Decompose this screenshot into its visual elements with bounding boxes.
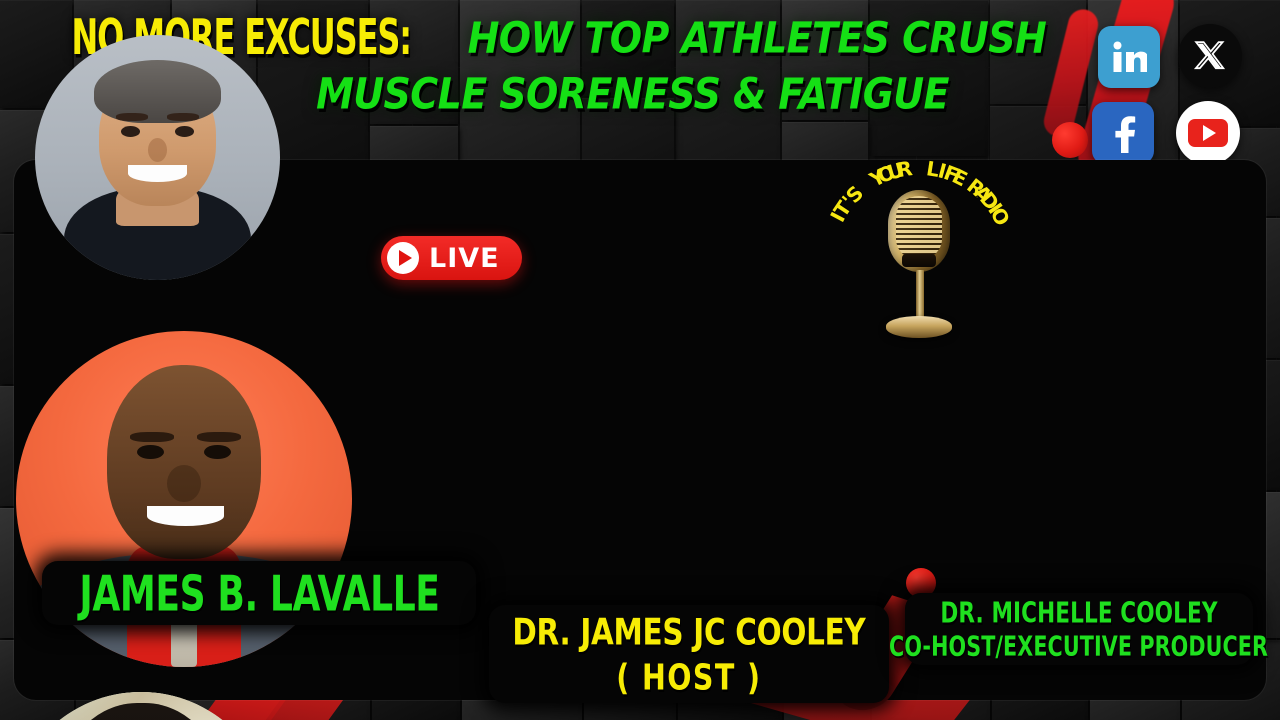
microphone-icon: [880, 190, 958, 340]
red-dot-top: [1052, 122, 1088, 158]
nameplate-center: DR. JAMES JC COOLEY ( HOST ): [489, 605, 889, 703]
nameplate-left: JAMES B. LAVALLE: [42, 561, 476, 625]
guest-photo-left: [35, 35, 280, 280]
radio-logo-arc-char: [910, 156, 919, 180]
host-name-center: DR. JAMES JC COOLEY: [512, 610, 865, 654]
cohost-role-right: CO-HOST/EXECUTIVE PRODUCER: [889, 631, 1268, 662]
play-icon: [387, 242, 419, 274]
live-badge-label: LIVE: [429, 243, 500, 274]
x-twitter-icon[interactable]: [1178, 24, 1242, 88]
guest-name-left: JAMES B. LAVALLE: [79, 565, 439, 622]
microphone-grille: [896, 196, 942, 260]
youtube-icon[interactable]: [1176, 101, 1240, 165]
cohost-photo-right: [9, 692, 273, 720]
facebook-icon[interactable]: [1092, 102, 1154, 164]
nameplate-right: DR. MICHELLE COOLEY CO-HOST/EXECUTIVE PR…: [905, 593, 1253, 665]
microphone-stem: [916, 270, 924, 322]
host-role-center: ( HOST ): [616, 657, 761, 698]
youtube-play-box: [1188, 119, 1228, 147]
youtube-play-triangle: [1203, 125, 1216, 141]
radio-show-logo: IT'S YOUR LIFE RADIO: [806, 162, 1032, 358]
microphone-base: [886, 316, 952, 338]
microphone-head: [888, 190, 950, 272]
cohost-name-right: DR. MICHELLE COOLEY: [940, 596, 1217, 629]
microphone-badge: [902, 254, 936, 267]
live-badge[interactable]: LIVE: [381, 236, 522, 280]
linkedin-icon[interactable]: [1098, 26, 1160, 88]
play-triangle: [399, 250, 412, 266]
thumbnail-canvas: NO MORE EXCUSES: HOW TOP ATHLETES CRUSH …: [0, 0, 1280, 720]
